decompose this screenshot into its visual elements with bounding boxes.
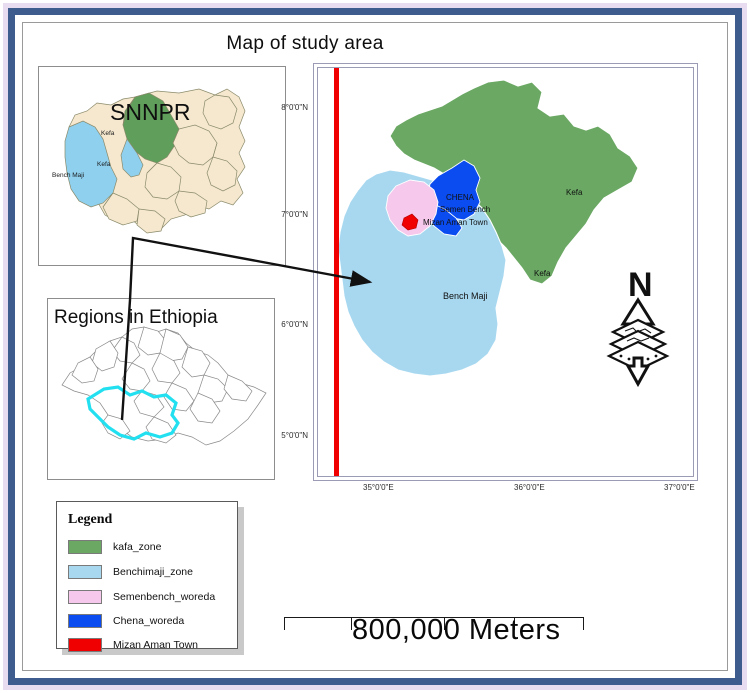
map-figure: Map of study area SNNPR Kefa Kefa Be [0,0,750,693]
north-arrow-icon: N [603,262,673,387]
legend-label-benchimaji-zone: Benchimaji_zone [113,566,193,578]
inset-map-snnpr[interactable] [38,66,286,266]
legend-swatch-chena-woreda [68,614,102,628]
snnpr-inset-svg [39,67,285,265]
legend-item-kafa-zone[interactable]: kafa_zone [68,537,161,557]
scale-bar-tick-4 [583,617,584,630]
legend-item-benchimaji-zone[interactable]: Benchimaji_zone [68,562,193,582]
legend-item-chena-woreda[interactable]: Chena_woreda [68,611,184,631]
north-arrow-letter: N [628,266,653,304]
scale-bar-tick-0 [284,617,285,630]
legend-label-mizan-aman-town: Mizan Aman Town [113,639,198,651]
legend-swatch-mizan-aman-town [68,638,102,652]
legend-title: Legend [68,512,112,528]
legend-swatch-benchimaji-zone [68,565,102,579]
graticule-red-line [334,68,339,476]
page-title: Map of study area [155,33,455,55]
legend-item-mizan-aman-town[interactable]: Mizan Aman Town [68,635,198,655]
scale-bar-label: 800,000 Meters [352,614,561,647]
legend-swatch-semenbench-woreda [68,590,102,604]
ethiopia-inset-svg [48,299,274,479]
inset-map-ethiopia[interactable] [47,298,275,480]
legend-label-chena-woreda: Chena_woreda [113,615,184,627]
legend-swatch-kafa-zone [68,540,102,554]
legend-item-semenbench-woreda[interactable]: Semenbench_woreda [68,587,215,607]
legend-label-semenbench-woreda: Semenbench_woreda [113,591,215,603]
legend-label-kafa-zone: kafa_zone [113,541,161,553]
